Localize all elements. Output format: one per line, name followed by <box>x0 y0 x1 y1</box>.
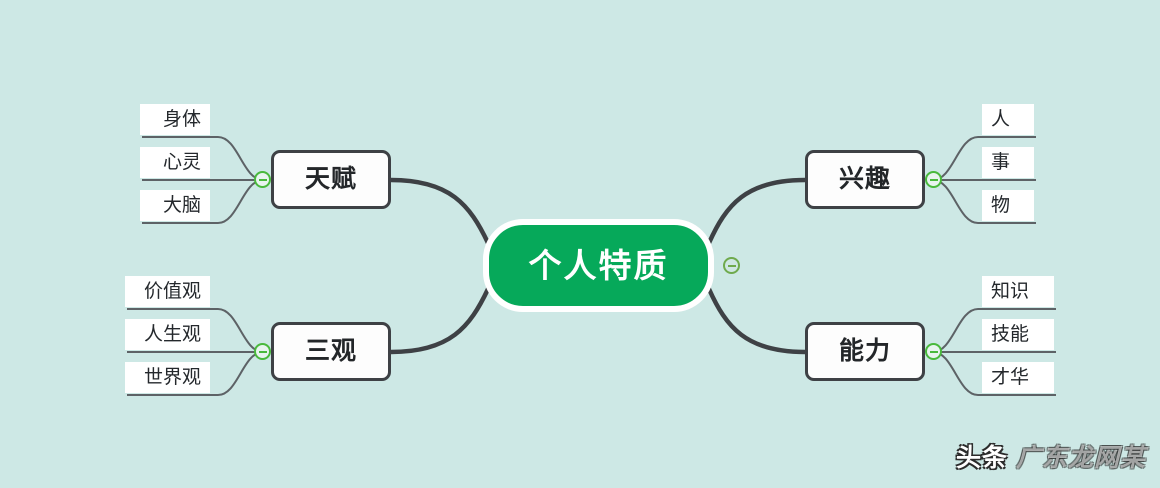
leaf-ability-2[interactable]: 才华 <box>982 362 1054 393</box>
watermark-ghost-text: 广东龙网某 <box>1016 438 1146 474</box>
branch-node-talent[interactable]: 天赋 <box>271 150 391 209</box>
leaf-views-0[interactable]: 价值观 <box>125 276 210 307</box>
branch-node-interest-label: 兴趣 <box>839 167 891 192</box>
wire-root-interest <box>709 180 805 243</box>
collapse-toggle-interest[interactable] <box>925 171 942 188</box>
leaf-interest-0[interactable]: 人 <box>982 104 1034 135</box>
branch-node-views-label: 三观 <box>305 339 357 364</box>
leaf-interest-1[interactable]: 事 <box>982 147 1034 178</box>
branch-node-talent-label: 天赋 <box>305 167 357 192</box>
watermark: 头条 广东龙网某 <box>956 438 1146 474</box>
branch-node-interest[interactable]: 兴趣 <box>805 150 925 209</box>
branch-node-views[interactable]: 三观 <box>271 322 391 381</box>
wire-root-talent <box>391 180 488 243</box>
branch-node-ability-label: 能力 <box>839 339 891 364</box>
leaf-talent-0[interactable]: 身体 <box>140 104 210 135</box>
leaf-ability-1[interactable]: 技能 <box>982 319 1054 350</box>
collapse-toggle-views[interactable] <box>254 343 271 360</box>
branch-node-ability[interactable]: 能力 <box>805 322 925 381</box>
collapse-toggle-ability[interactable] <box>925 343 942 360</box>
mindmap-canvas: 个人特质 天赋 身体 心灵 大脑 三观 价值观 人生观 世界观 兴趣 人 事 物 <box>0 0 1160 488</box>
wire-root-views <box>391 289 488 352</box>
leaf-talent-1[interactable]: 心灵 <box>140 147 210 178</box>
wire-root-ability <box>709 289 805 352</box>
collapse-toggle-talent[interactable] <box>254 171 271 188</box>
collapse-toggle-root[interactable] <box>723 257 740 274</box>
leaf-views-1[interactable]: 人生观 <box>125 319 210 350</box>
root-node-label: 个人特质 <box>529 249 669 282</box>
leaf-ability-0[interactable]: 知识 <box>982 276 1054 307</box>
root-node-personal-traits[interactable]: 个人特质 <box>483 219 714 312</box>
leaf-interest-2[interactable]: 物 <box>982 190 1034 221</box>
watermark-brand: 头条 <box>956 438 1008 474</box>
leaf-views-2[interactable]: 世界观 <box>125 362 210 393</box>
leaf-talent-2[interactable]: 大脑 <box>140 190 210 221</box>
